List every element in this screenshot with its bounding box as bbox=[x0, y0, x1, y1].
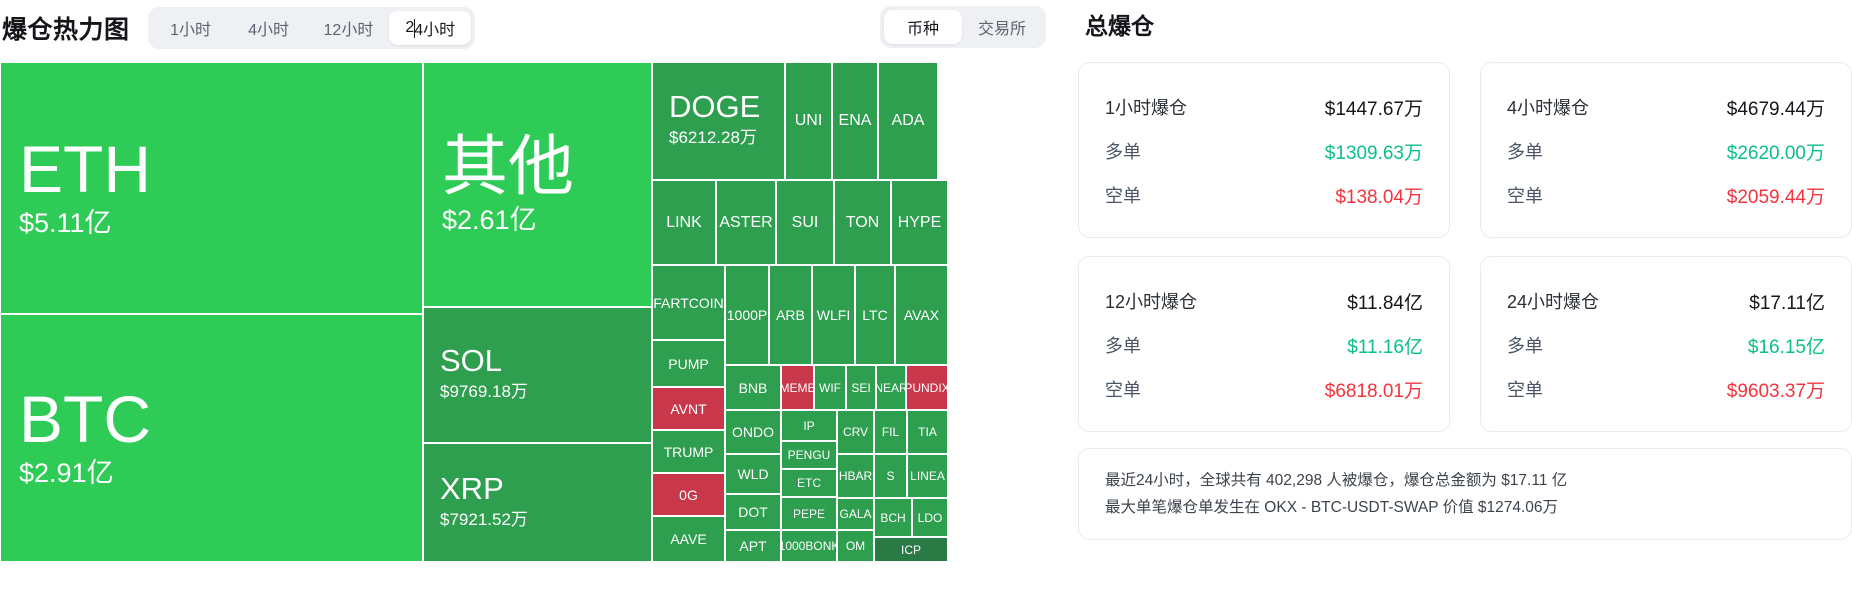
treemap-tile[interactable]: ASTER bbox=[716, 180, 776, 265]
tile-symbol: NEAR bbox=[876, 382, 906, 394]
tile-symbol: XRP bbox=[440, 473, 504, 504]
treemap-tile[interactable]: ADA bbox=[878, 62, 938, 180]
tile-symbol: APT bbox=[739, 539, 766, 553]
mode-tab-币种[interactable]: 币种 bbox=[884, 10, 962, 44]
tile-symbol: PENGU bbox=[788, 449, 831, 461]
stat-period-label: 1小时爆仓 bbox=[1105, 94, 1187, 120]
tile-symbol: 其他 bbox=[442, 133, 574, 199]
treemap-tile[interactable]: AVAX bbox=[895, 265, 948, 365]
treemap-tile[interactable]: DOGE$6212.28万 bbox=[652, 62, 785, 180]
tile-symbol: LINK bbox=[666, 215, 702, 231]
stat-card-24小时爆仓: 24小时爆仓$17.11亿多单$16.15亿空单$9603.37万 bbox=[1480, 256, 1852, 432]
treemap-tile[interactable]: LTC bbox=[855, 265, 895, 365]
tile-symbol: CRV bbox=[843, 426, 868, 438]
stat-row: 多单$16.15亿 bbox=[1507, 323, 1825, 367]
treemap-tile[interactable]: AAVE bbox=[652, 516, 725, 562]
stat-row: 多单$1309.63万 bbox=[1105, 129, 1423, 173]
tile-symbol: LTC bbox=[862, 308, 887, 322]
tile-symbol: TIA bbox=[918, 426, 937, 438]
treemap-tile[interactable]: XRP$7921.52万 bbox=[423, 443, 652, 562]
stat-card-12小时爆仓: 12小时爆仓$11.84亿多单$11.16亿空单$6818.01万 bbox=[1078, 256, 1450, 432]
stat-period-label: 12小时爆仓 bbox=[1105, 288, 1197, 314]
tile-symbol: FARTCOIN bbox=[653, 296, 724, 310]
stat-row: 24小时爆仓$17.11亿 bbox=[1507, 279, 1825, 323]
time-tab-4小时[interactable]: 4小时 bbox=[230, 11, 308, 45]
tile-symbol: WLD bbox=[737, 467, 768, 481]
liquidation-treemap[interactable]: ETH$5.11亿BTC$2.91亿其他$2.61亿SOL$9769.18万XR… bbox=[0, 62, 1070, 562]
treemap-tile[interactable]: AVNT bbox=[652, 387, 725, 430]
treemap-tile[interactable]: LINK bbox=[652, 180, 716, 265]
stat-row: 4小时爆仓$4679.44万 bbox=[1507, 85, 1825, 129]
tile-symbol: ETH bbox=[19, 136, 151, 202]
treemap-tile[interactable]: ICP bbox=[874, 537, 948, 562]
treemap-tile[interactable]: ARB bbox=[769, 265, 812, 365]
tile-symbol: ICP bbox=[901, 544, 921, 556]
treemap-tile[interactable]: 1000P bbox=[725, 265, 769, 365]
treemap-tile[interactable]: ENA bbox=[832, 62, 878, 180]
stat-row: 1小时爆仓$1447.67万 bbox=[1105, 85, 1423, 129]
stat-short-value: $138.04万 bbox=[1335, 182, 1423, 209]
stat-row: 空单$6818.01万 bbox=[1105, 367, 1423, 411]
treemap-tile[interactable]: APT bbox=[725, 530, 781, 562]
treemap-tile[interactable]: LINEA bbox=[907, 454, 948, 498]
treemap-tile[interactable]: HBAR bbox=[837, 454, 874, 498]
tile-symbol: ENA bbox=[839, 113, 872, 129]
tile-symbol: 1000P bbox=[727, 308, 767, 322]
time-tab-12小时[interactable]: 12小时 bbox=[308, 11, 390, 45]
tile-symbol: LINEA bbox=[910, 470, 945, 482]
treemap-tile[interactable]: CRV bbox=[837, 410, 874, 454]
treemap-tile[interactable]: PEPE bbox=[781, 497, 837, 530]
page-title: 爆仓热力图 bbox=[2, 10, 130, 46]
treemap-tile[interactable]: SUI bbox=[776, 180, 834, 265]
treemap-tile[interactable]: ONDO bbox=[725, 410, 781, 454]
treemap-tile[interactable]: OM bbox=[837, 530, 874, 562]
tile-symbol: HYPE bbox=[898, 215, 942, 231]
treemap-tile[interactable]: TIA bbox=[907, 410, 948, 454]
stat-card-4小时爆仓: 4小时爆仓$4679.44万多单$2620.00万空单$2059.44万 bbox=[1480, 62, 1852, 238]
treemap-tile[interactable]: FIL bbox=[874, 410, 907, 454]
treemap-tile[interactable]: TRUMP bbox=[652, 430, 725, 473]
tile-symbol: PEPE bbox=[793, 508, 825, 520]
treemap-tile[interactable]: S bbox=[874, 454, 907, 498]
stat-short-value: $9603.37万 bbox=[1727, 376, 1825, 403]
stat-card-1小时爆仓: 1小时爆仓$1447.67万多单$1309.63万空单$138.04万 bbox=[1078, 62, 1450, 238]
stat-long-value: $2620.00万 bbox=[1727, 138, 1825, 165]
treemap-tile[interactable]: MEME bbox=[781, 365, 814, 410]
tile-symbol: ARB bbox=[776, 308, 805, 322]
stat-row: 空单$138.04万 bbox=[1105, 173, 1423, 217]
stat-long-label: 多单 bbox=[1507, 138, 1543, 164]
tile-symbol: SOL bbox=[440, 345, 502, 376]
summary-note-card: 最近24小时，全球共有 402,298 人被爆仓，爆仓总金额为 $17.11 亿… bbox=[1078, 448, 1852, 540]
stat-long-label: 多单 bbox=[1105, 332, 1141, 358]
tile-symbol: MEME bbox=[781, 382, 814, 394]
treemap-tile[interactable]: WLD bbox=[725, 454, 781, 494]
tile-symbol: HBAR bbox=[839, 470, 872, 482]
stat-row: 多单$2620.00万 bbox=[1507, 129, 1825, 173]
mode-tabs[interactable]: 币种交易所 bbox=[880, 6, 1046, 48]
treemap-tile[interactable]: SEI bbox=[846, 365, 876, 410]
stat-long-label: 多单 bbox=[1105, 138, 1141, 164]
treemap-tile[interactable]: BTC$2.91亿 bbox=[0, 314, 423, 562]
treemap-tile[interactable]: 0G bbox=[652, 473, 725, 516]
treemap-tile[interactable]: SOL$9769.18万 bbox=[423, 307, 652, 443]
tile-symbol: UNI bbox=[795, 113, 823, 129]
tile-symbol: LDO bbox=[918, 512, 943, 524]
treemap-tile[interactable]: 其他$2.61亿 bbox=[423, 62, 652, 307]
tile-symbol: TON bbox=[846, 215, 879, 231]
tile-symbol: S bbox=[886, 470, 894, 482]
tile-symbol: GALA bbox=[839, 508, 871, 520]
tile-value: $6212.28万 bbox=[669, 129, 757, 146]
stat-total-value: $11.84亿 bbox=[1347, 288, 1423, 315]
stat-row: 12小时爆仓$11.84亿 bbox=[1105, 279, 1423, 323]
tile-symbol: OM bbox=[846, 540, 865, 552]
stat-total-value: $1447.67万 bbox=[1325, 94, 1423, 121]
treemap-tile[interactable]: WIF bbox=[814, 365, 846, 410]
summary-note-line-2: 最大单笔爆仓单发生在 OKX - BTC-USDT-SWAP 价值 $1274.… bbox=[1105, 494, 1825, 521]
treemap-tile[interactable]: BNB bbox=[725, 365, 781, 410]
treemap-tile[interactable]: 1000BONK bbox=[781, 530, 837, 562]
stat-row: 多单$11.16亿 bbox=[1105, 323, 1423, 367]
tile-symbol: WIF bbox=[819, 382, 841, 394]
treemap-tile[interactable]: FARTCOIN bbox=[652, 265, 725, 340]
stat-row: 空单$2059.44万 bbox=[1507, 173, 1825, 217]
total-liquidation-title: 总爆仓 bbox=[1085, 7, 1154, 41]
time-tab-1小时[interactable]: 1小时 bbox=[152, 11, 230, 45]
tile-symbol: ETC bbox=[797, 477, 821, 489]
stat-total-value: $4679.44万 bbox=[1727, 94, 1825, 121]
tile-symbol: SUI bbox=[792, 215, 819, 231]
tile-value: $7921.52万 bbox=[440, 511, 528, 528]
tile-symbol: PUMP bbox=[668, 357, 708, 371]
stat-long-value: $1309.63万 bbox=[1325, 138, 1423, 165]
tile-symbol: ASTER bbox=[719, 215, 772, 231]
summary-note-line-1: 最近24小时，全球共有 402,298 人被爆仓，爆仓总金额为 $17.11 亿 bbox=[1105, 467, 1825, 494]
tile-symbol: BCH bbox=[880, 512, 905, 524]
treemap-tile[interactable]: IP bbox=[781, 410, 837, 441]
treemap-tile[interactable]: WLFI bbox=[812, 265, 855, 365]
tile-symbol: BNB bbox=[739, 381, 768, 395]
time-tab-24小时[interactable]: 24小时 bbox=[389, 11, 471, 45]
stat-period-label: 24小时爆仓 bbox=[1507, 288, 1599, 314]
treemap-tile[interactable]: TON bbox=[834, 180, 891, 265]
stat-row: 空单$9603.37万 bbox=[1507, 367, 1825, 411]
tile-symbol: AVAX bbox=[904, 308, 939, 322]
tile-value: $5.11亿 bbox=[19, 210, 112, 237]
tile-symbol: ADA bbox=[892, 113, 925, 129]
tile-symbol: BTC bbox=[19, 386, 151, 452]
stat-long-label: 多单 bbox=[1507, 332, 1543, 358]
treemap-tile[interactable]: ETH$5.11亿 bbox=[0, 62, 423, 314]
treemap-tile[interactable]: ETC bbox=[781, 469, 837, 497]
treemap-tile[interactable]: PUNDIX bbox=[906, 365, 948, 410]
tile-value: $9769.18万 bbox=[440, 383, 528, 400]
tile-symbol: DOGE bbox=[669, 91, 760, 122]
liquidation-heatmap-page: 爆仓热力图 1小时4小时12小时24小时 币种交易所 总爆仓 ETH$5.11亿… bbox=[0, 0, 1852, 599]
stat-short-label: 空单 bbox=[1507, 182, 1543, 208]
stat-period-label: 4小时爆仓 bbox=[1507, 94, 1589, 120]
tile-symbol: DOT bbox=[738, 505, 768, 519]
stats-panel: 1小时爆仓$1447.67万多单$1309.63万空单$138.04万4小时爆仓… bbox=[1078, 62, 1852, 562]
treemap-tile[interactable]: UNI bbox=[785, 62, 832, 180]
stat-long-value: $16.15亿 bbox=[1748, 332, 1825, 359]
tile-symbol: IP bbox=[803, 420, 814, 432]
tile-value: $2.91亿 bbox=[19, 460, 114, 487]
mode-tab-交易所[interactable]: 交易所 bbox=[962, 10, 1042, 44]
stat-short-value: $6818.01万 bbox=[1325, 376, 1423, 403]
tile-symbol: ONDO bbox=[732, 425, 774, 439]
tile-symbol: 0G bbox=[679, 488, 698, 502]
stat-short-label: 空单 bbox=[1105, 182, 1141, 208]
treemap-tile[interactable]: LDO bbox=[912, 498, 948, 537]
treemap-tile[interactable]: PENGU bbox=[781, 441, 837, 469]
treemap-tile[interactable]: DOT bbox=[725, 494, 781, 530]
mode-tabs-wrapper: 币种交易所 bbox=[880, 6, 1046, 48]
treemap-tile[interactable]: GALA bbox=[837, 498, 874, 530]
stat-total-value: $17.11亿 bbox=[1749, 288, 1825, 315]
tile-symbol: PUNDIX bbox=[906, 382, 948, 394]
stat-short-label: 空单 bbox=[1105, 376, 1141, 402]
tile-symbol: SEI bbox=[851, 382, 870, 394]
tile-symbol: AAVE bbox=[670, 532, 706, 546]
treemap-tile[interactable]: BCH bbox=[874, 498, 912, 537]
tile-symbol: AVNT bbox=[670, 402, 706, 416]
tile-symbol: WLFI bbox=[817, 308, 850, 322]
treemap-tile[interactable]: HYPE bbox=[891, 180, 948, 265]
treemap-tile[interactable]: NEAR bbox=[876, 365, 906, 410]
tile-symbol: FIL bbox=[882, 426, 899, 438]
tile-value: $2.61亿 bbox=[442, 207, 537, 234]
tile-symbol: TRUMP bbox=[664, 445, 714, 459]
tile-symbol: 1000BONK bbox=[781, 540, 837, 552]
stat-short-label: 空单 bbox=[1507, 376, 1543, 402]
stat-long-value: $11.16亿 bbox=[1347, 332, 1423, 359]
stat-short-value: $2059.44万 bbox=[1727, 182, 1825, 209]
treemap-tile[interactable]: PUMP bbox=[652, 340, 725, 387]
time-range-tabs[interactable]: 1小时4小时12小时24小时 bbox=[148, 7, 476, 49]
